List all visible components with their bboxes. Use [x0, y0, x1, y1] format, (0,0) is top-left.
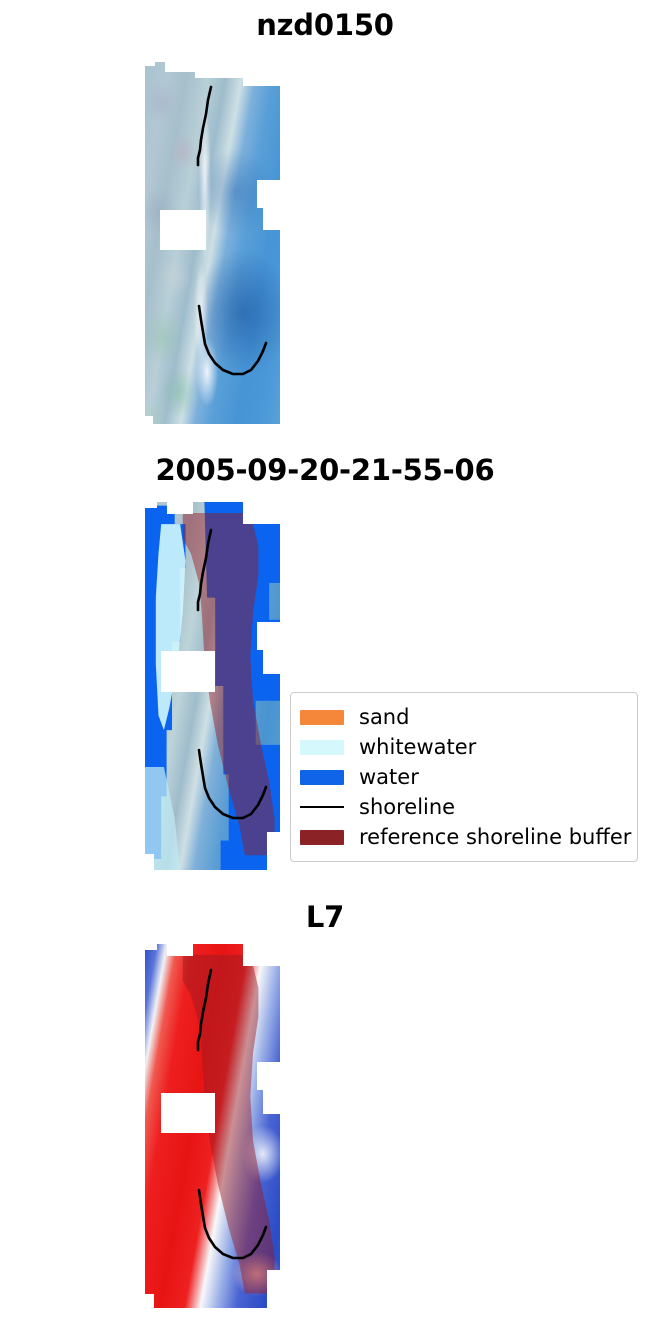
legend-item-reference-shoreline-buffer[interactable]: reference shoreline buffer	[300, 822, 627, 852]
panel-title-rgb: nzd0150	[0, 8, 650, 42]
nodata-notch-top-left	[145, 502, 157, 508]
nodata-notch-top-left	[145, 944, 157, 950]
raster-index	[145, 944, 280, 1308]
legend-swatch-whitewater	[300, 740, 344, 755]
nodata-notch-right-mid	[257, 180, 280, 208]
nodata-notch-top-far	[243, 62, 280, 86]
nodata-notch-top-right	[243, 502, 280, 524]
legend-label-sand: sand	[359, 705, 409, 729]
raster-rgb	[145, 62, 280, 424]
nodata-notch-top-mid	[167, 502, 193, 514]
legend-item-water[interactable]: water	[300, 762, 627, 792]
nodata-notch-right-mid	[257, 1062, 280, 1090]
legend-label-reference-shoreline-buffer: reference shoreline buffer	[359, 825, 631, 849]
panel-title-index: L7	[0, 900, 650, 934]
nodata-square-center	[161, 1093, 215, 1133]
nodata-notch-right-low	[263, 1090, 280, 1114]
raster-classification	[145, 502, 280, 870]
nodata-notch-bottom	[145, 416, 153, 424]
nodata-notch-top-left	[145, 62, 155, 66]
nodata-notch-bottom-right	[267, 832, 280, 870]
legend-swatch-sand	[300, 710, 344, 725]
legend-item-whitewater[interactable]: whitewater	[300, 732, 627, 762]
legend-item-sand[interactable]: sand	[300, 702, 627, 732]
nodata-notch-right-low	[263, 650, 280, 674]
nodata-notch-bottom-left	[145, 854, 154, 870]
legend-label-whitewater: whitewater	[359, 735, 476, 759]
nodata-square-center	[160, 210, 206, 250]
panel-image-classification[interactable]	[145, 502, 280, 870]
legend-label-water: water	[359, 765, 419, 789]
legend-box: sand whitewater water shoreline referenc…	[290, 692, 638, 862]
panel-image-rgb[interactable]	[145, 62, 280, 424]
panel-title-classification: 2005-09-20-21-55-06	[0, 453, 650, 487]
nodata-notch-right-mid	[257, 622, 280, 650]
nodata-notch-top-mid	[167, 944, 193, 956]
legend-swatch-reference-shoreline-buffer	[300, 830, 344, 845]
legend-label-shoreline: shoreline	[359, 795, 455, 819]
legend-swatch-water	[300, 770, 344, 785]
nodata-notch-top-right	[243, 944, 280, 966]
figure-canvas: nzd0150 2005-09-20-21-55-06	[0, 0, 650, 1337]
nodata-notch-bottom-left	[145, 1294, 154, 1308]
panel-image-index[interactable]	[145, 944, 280, 1308]
nodata-notch-top-mid	[165, 62, 195, 72]
nodata-notch-bottom-right	[267, 1270, 280, 1308]
nodata-notch-right-low	[263, 208, 280, 230]
legend-item-shoreline[interactable]: shoreline	[300, 792, 627, 822]
legend-swatch-shoreline	[300, 800, 344, 815]
nodata-square-center	[161, 651, 215, 691]
